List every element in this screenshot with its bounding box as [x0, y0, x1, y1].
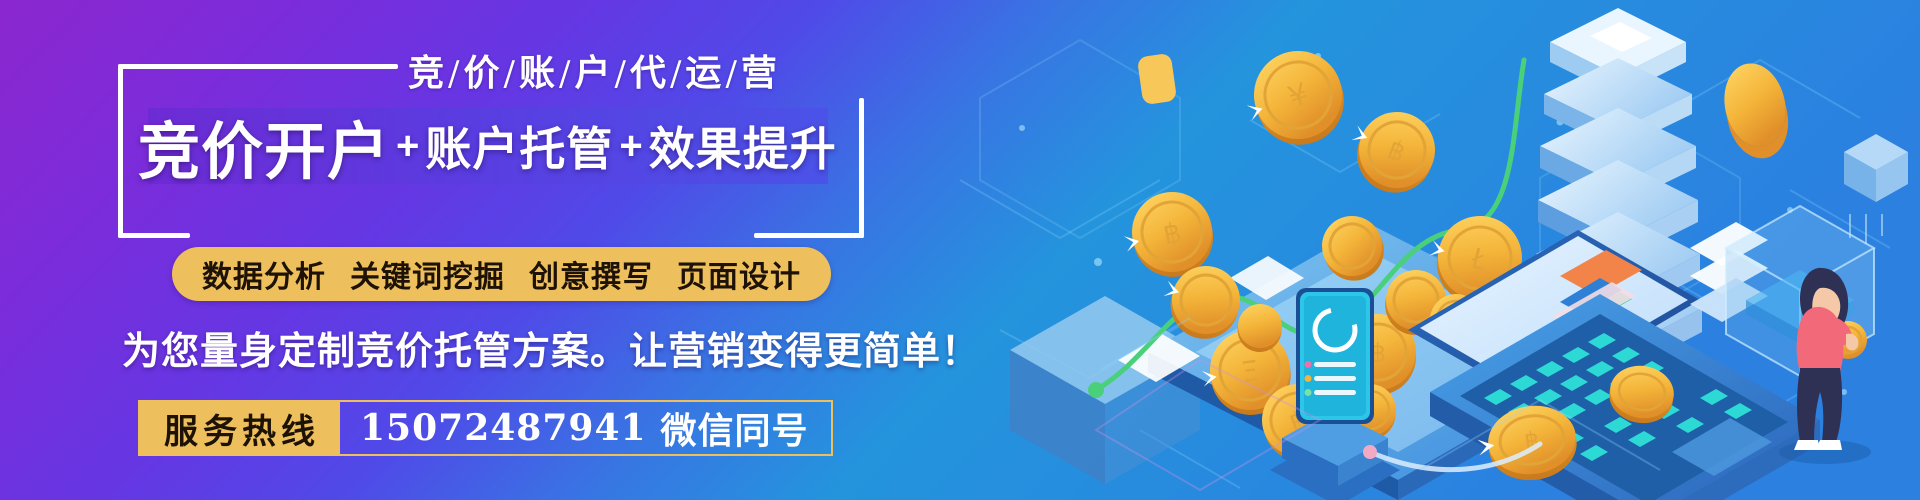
eyebrow-sep-1: / — [446, 54, 463, 94]
promo-banner: 竞/价/账/户/代/运/营 竞价开户 + 账户托管 + 效果提升 数据分析 关键… — [0, 0, 1920, 500]
eyebrow-char-4: 户 — [574, 52, 612, 94]
hotline-wechat-note: 微信同号 — [661, 402, 809, 454]
hotline-bar: 服务热线 15072487941 微信同号 — [138, 400, 833, 456]
subtitle-text: 为您量身定制竞价托管方案。让营销变得更简单！ — [122, 320, 980, 375]
eyebrow-char-6: 运 — [685, 52, 723, 94]
headline-part-3: 效果提升 — [649, 113, 837, 179]
eyebrow-char-7: 营 — [741, 52, 779, 94]
eyebrow-text: 竞/价/账/户/代/运/营 — [408, 44, 779, 96]
eyebrow-char-1: 竞 — [408, 52, 446, 94]
hotline-value[interactable]: 15072487941 微信同号 — [340, 402, 831, 454]
headline-part-2: 账户托管 — [425, 113, 613, 179]
eyebrow-char-3: 账 — [519, 52, 557, 94]
floating-cube — [1844, 134, 1908, 244]
bracket-right-line — [859, 98, 864, 238]
eyebrow-sep-3: / — [557, 54, 574, 94]
headline: 竞价开户 + 账户托管 + 效果提升 — [138, 106, 837, 186]
eyebrow-sep-5: / — [668, 54, 685, 94]
headline-part-1: 竞价开户 — [138, 101, 390, 191]
headline-plus-2: + — [613, 124, 648, 169]
bracket-bottom-right-line — [754, 233, 864, 238]
headline-plus-1: + — [390, 124, 425, 169]
eyebrow-char-5: 代 — [630, 52, 668, 94]
eyebrow-sep-6: / — [723, 54, 740, 94]
illustration: ¥ ฿ ฿ Ł — [900, 0, 1920, 500]
service-tags-pill: 数据分析 关键词挖掘 创意撰写 页面设计 — [172, 247, 831, 301]
eyebrow-sep-2: / — [502, 54, 519, 94]
bracket-left-line — [118, 64, 123, 238]
service-tag-creative-writing: 创意撰写 — [529, 252, 653, 296]
hotline-phone-number: 15072487941 — [360, 407, 647, 449]
service-tag-page-design: 页面设计 — [677, 252, 801, 296]
bracket-top-line — [118, 64, 398, 69]
hotline-label: 服务热线 — [140, 402, 340, 454]
eyebrow-sep-4: / — [612, 54, 629, 94]
service-tag-keyword-mining: 关键词挖掘 — [350, 252, 505, 296]
bracket-bottom-left-line — [118, 233, 190, 238]
banner-text-block: 竞/价/账/户/代/运/营 竞价开户 + 账户托管 + 效果提升 数据分析 关键… — [0, 0, 920, 500]
eyebrow-char-2: 价 — [463, 52, 501, 94]
service-tag-data-analysis: 数据分析 — [202, 252, 326, 296]
